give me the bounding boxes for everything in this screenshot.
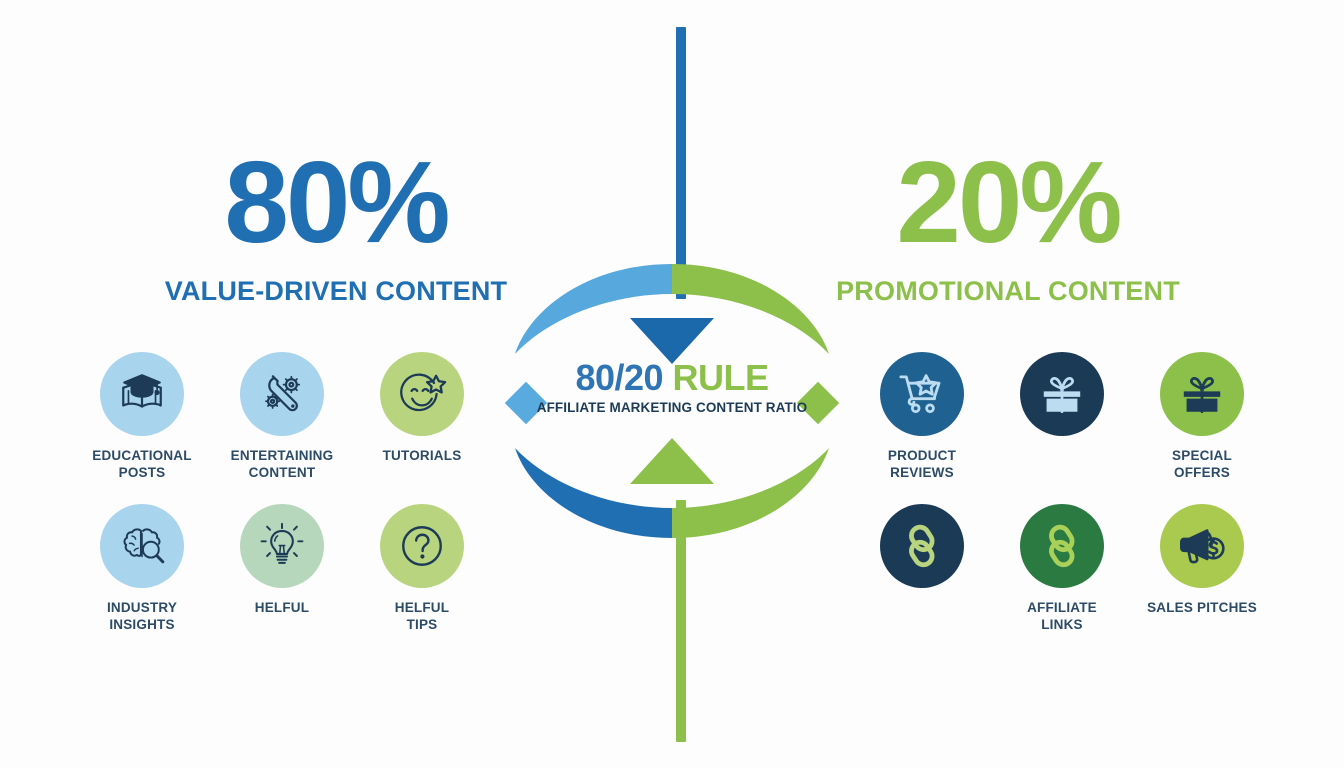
icon-cell-label: TUTORIALS xyxy=(383,447,462,464)
icon-cell-label: ENTERTAINING CONTENT xyxy=(231,447,334,482)
icon-cell-label: INDUSTRY INSIGHTS xyxy=(107,599,177,634)
megaphone-dollar-icon[interactable] xyxy=(1160,504,1244,588)
left-icon-grid: EDUCATIONAL POSTS ENTERTAINING CONTENT T… xyxy=(72,352,492,656)
up-arrow-icon xyxy=(630,438,714,484)
icon-cell[interactable] xyxy=(992,352,1132,504)
icon-cell-label: SALES PITCHES xyxy=(1147,599,1257,616)
icon-cell[interactable]: TUTORIALS xyxy=(352,352,492,504)
icon-cell-label: HELFUL TIPS xyxy=(395,599,449,634)
icon-cell-label: SPECIAL OFFERS xyxy=(1172,447,1232,482)
icon-cell[interactable]: EDUCATIONAL POSTS xyxy=(72,352,212,504)
smiley-star-icon[interactable] xyxy=(380,352,464,436)
question-mark-icon[interactable] xyxy=(380,504,464,588)
left-percent: 80% xyxy=(0,144,672,260)
gift-box-icon[interactable] xyxy=(1160,352,1244,436)
lightbulb-icon[interactable] xyxy=(240,504,324,588)
right-percent: 20% xyxy=(672,144,1344,260)
brain-magnifier-icon[interactable] xyxy=(100,504,184,588)
wrench-gears-icon[interactable] xyxy=(240,352,324,436)
icon-cell[interactable]: SALES PITCHES xyxy=(1132,504,1272,656)
icon-cell[interactable]: SPECIAL OFFERS xyxy=(1132,352,1272,504)
icon-cell-label: EDUCATIONAL POSTS xyxy=(92,447,191,482)
icon-cell[interactable]: HELFUL TIPS xyxy=(352,504,492,656)
icon-cell[interactable]: HELFUL xyxy=(212,504,352,656)
icon-cell[interactable]: ENTERTAINING CONTENT xyxy=(212,352,352,504)
icon-cell[interactable]: AFFILIATE LINKS xyxy=(992,504,1132,656)
graduation-book-icon[interactable] xyxy=(100,352,184,436)
center-text-block: 80/20 RULE AFFILIATE MARKETING CONTENT R… xyxy=(497,360,847,415)
icon-cell[interactable] xyxy=(852,504,992,656)
right-icon-grid: PRODUCT REVIEWS SPECIAL OFFERS AFFILIATE… xyxy=(852,352,1272,656)
cart-star-icon[interactable] xyxy=(880,352,964,436)
icon-cell[interactable]: INDUSTRY INSIGHTS xyxy=(72,504,212,656)
chain-link-icon[interactable] xyxy=(880,504,964,588)
chain-link-icon[interactable] xyxy=(1020,504,1104,588)
gift-box-icon[interactable] xyxy=(1020,352,1104,436)
icon-cell[interactable]: PRODUCT REVIEWS xyxy=(852,352,992,504)
rule-title: 80/20 RULE xyxy=(497,360,847,396)
rule-word: RULE xyxy=(663,357,769,398)
icon-cell-label: AFFILIATE LINKS xyxy=(1027,599,1097,634)
rule-subtitle: AFFILIATE MARKETING CONTENT RATIO xyxy=(497,400,847,415)
rule-number: 80/20 xyxy=(575,357,663,398)
icon-cell-label: PRODUCT REVIEWS xyxy=(888,447,956,482)
center-rule-badge: 80/20 RULE AFFILIATE MARKETING CONTENT R… xyxy=(497,256,847,546)
icon-cell-label: HELFUL xyxy=(255,599,309,616)
